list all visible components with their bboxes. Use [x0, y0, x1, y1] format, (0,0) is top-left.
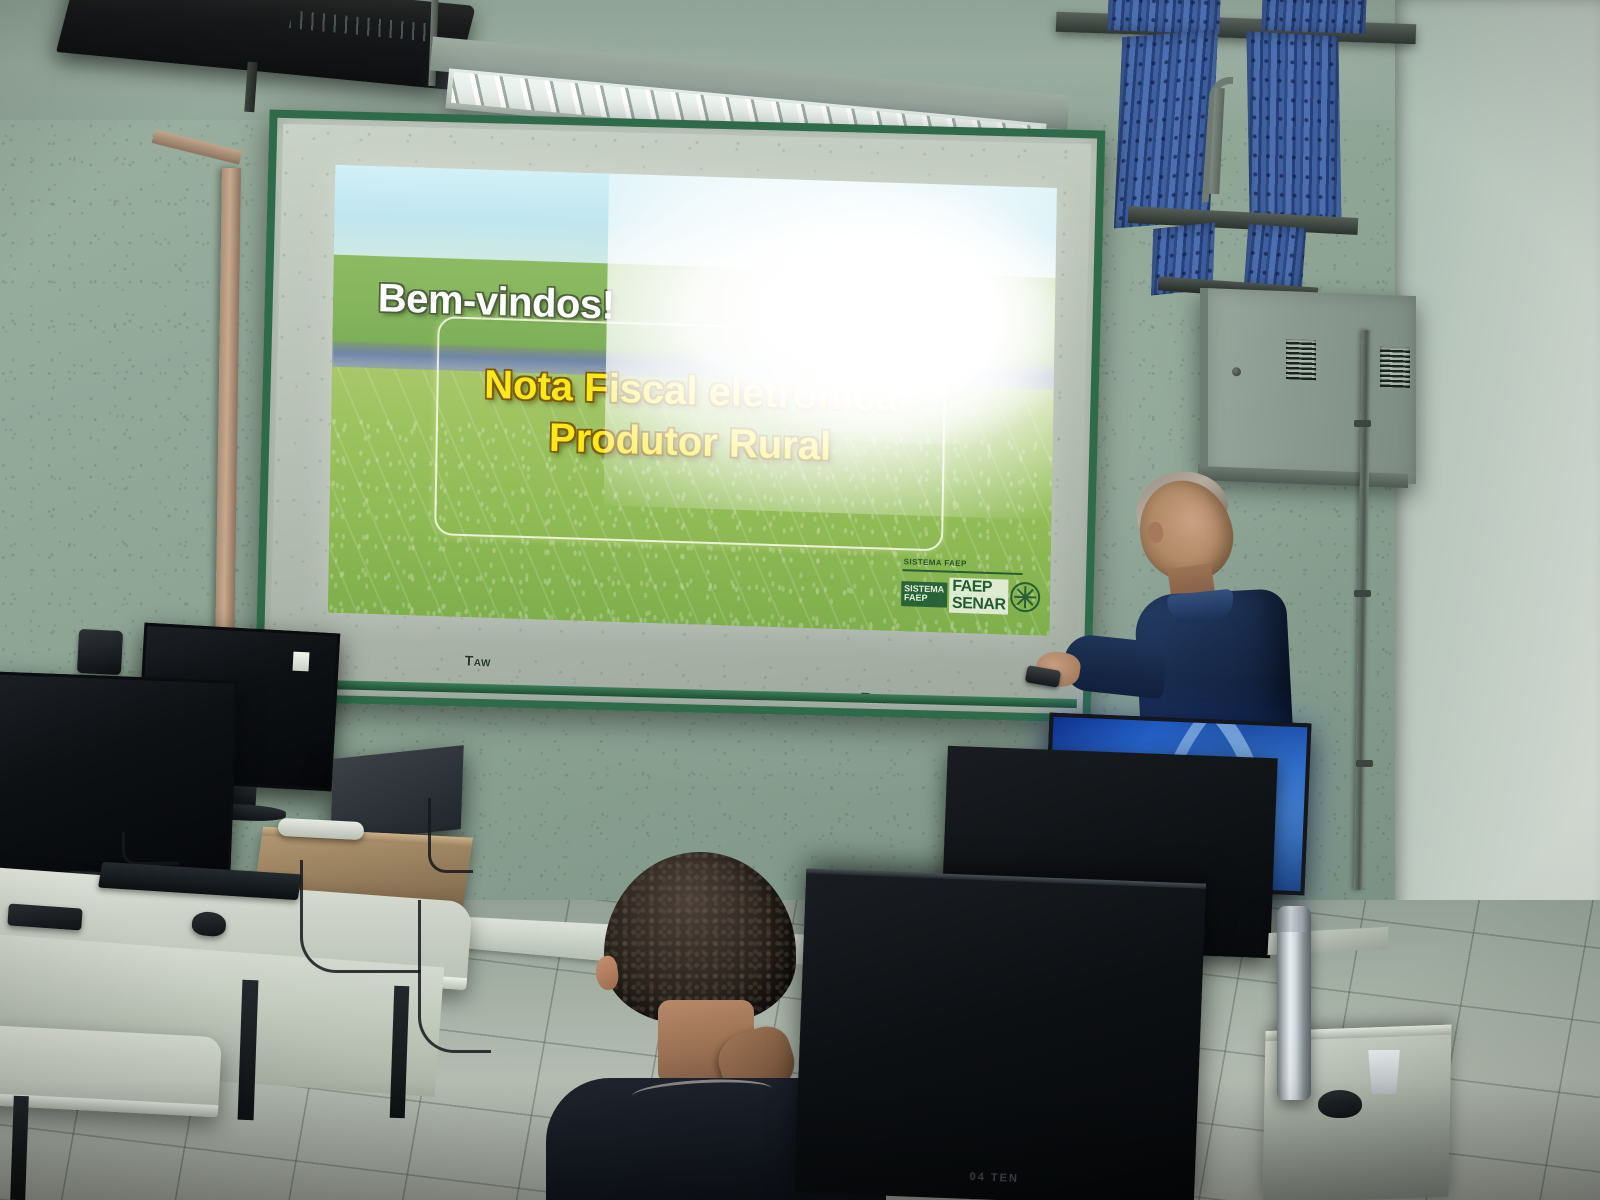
- student-hair: [604, 852, 796, 1024]
- cabinet-vent-louver: [1286, 339, 1316, 380]
- cable-bundle: [1107, 0, 1220, 34]
- desktop-speaker: [77, 629, 123, 675]
- projected-slide: Bem-vindos! Nota Fiscal eletrônica Produ…: [328, 165, 1057, 636]
- cable-dots: [1244, 224, 1306, 292]
- dark-object-on-table: [1318, 1090, 1362, 1118]
- cable-bundle: [1261, 0, 1366, 34]
- faep-logo-box-line2: FAEP: [904, 594, 944, 605]
- monitor-bezel: [0, 671, 238, 878]
- cable-dots: [1107, 0, 1220, 34]
- plastic-cup[interactable]: [1366, 1050, 1402, 1094]
- monitor-asset-sticker: [293, 652, 310, 672]
- desk-front-left: [0, 1023, 222, 1118]
- cable: [418, 900, 491, 1053]
- monitor-brand-label: 04 TEN: [969, 1171, 1019, 1185]
- electrical-cabinet: [1200, 288, 1416, 484]
- slide-title-line2: Produtor Rural: [437, 413, 943, 474]
- cable: [428, 798, 473, 873]
- board-surface: Bem-vindos! Nota Fiscal eletrônica Produ…: [269, 124, 1091, 708]
- cable-bundle: [1246, 31, 1341, 226]
- cable-dots: [1246, 31, 1341, 226]
- conduit-clip: [1354, 590, 1371, 597]
- faep-logo: SISTEMA FAEP SISTEMA FAEP FAEP SENAR: [899, 557, 1028, 619]
- projector-vents: [289, 11, 443, 43]
- projection-screen-board: Bem-vindos! Nota Fiscal eletrônica Produ…: [255, 110, 1106, 723]
- cable-bundle: [1244, 224, 1306, 292]
- cable-dots: [1261, 0, 1366, 34]
- monitor-foreground[interactable]: 04 TEN: [794, 868, 1206, 1200]
- bottle-cap[interactable]: [1277, 906, 1311, 932]
- water-bottle[interactable]: [1277, 906, 1311, 1100]
- slide-title-outline-box: Nota Fiscal eletrônica Produtor Rural: [434, 316, 947, 551]
- faep-logo-word-faep: FAEP: [949, 578, 1009, 597]
- cable: [122, 832, 179, 865]
- presenter: [1108, 470, 1328, 750]
- faep-logo-body: SISTEMA FAEP FAEP SENAR: [901, 572, 1026, 618]
- cabinet-vent-louver: [1380, 347, 1410, 388]
- slide-title-line1: Nota Fiscal eletrônica: [438, 361, 944, 422]
- board-label-left: Taw: [464, 652, 491, 669]
- cable: [300, 860, 421, 973]
- classroom-photo: Bem-vindos! Nota Fiscal eletrônica Produ…: [0, 0, 1600, 1200]
- faep-logo-box: SISTEMA FAEP: [901, 581, 947, 607]
- conduit-clip: [1356, 760, 1373, 767]
- faep-logo-top-text: SISTEMA FAEP: [904, 558, 967, 569]
- monitor-front-left[interactable]: [0, 671, 238, 878]
- cabinet-latch-knob[interactable]: [1232, 367, 1241, 376]
- hair-texture: [604, 852, 796, 1024]
- conduit-clip: [1354, 420, 1371, 427]
- faep-logo-word-senar: SENAR: [949, 595, 1009, 614]
